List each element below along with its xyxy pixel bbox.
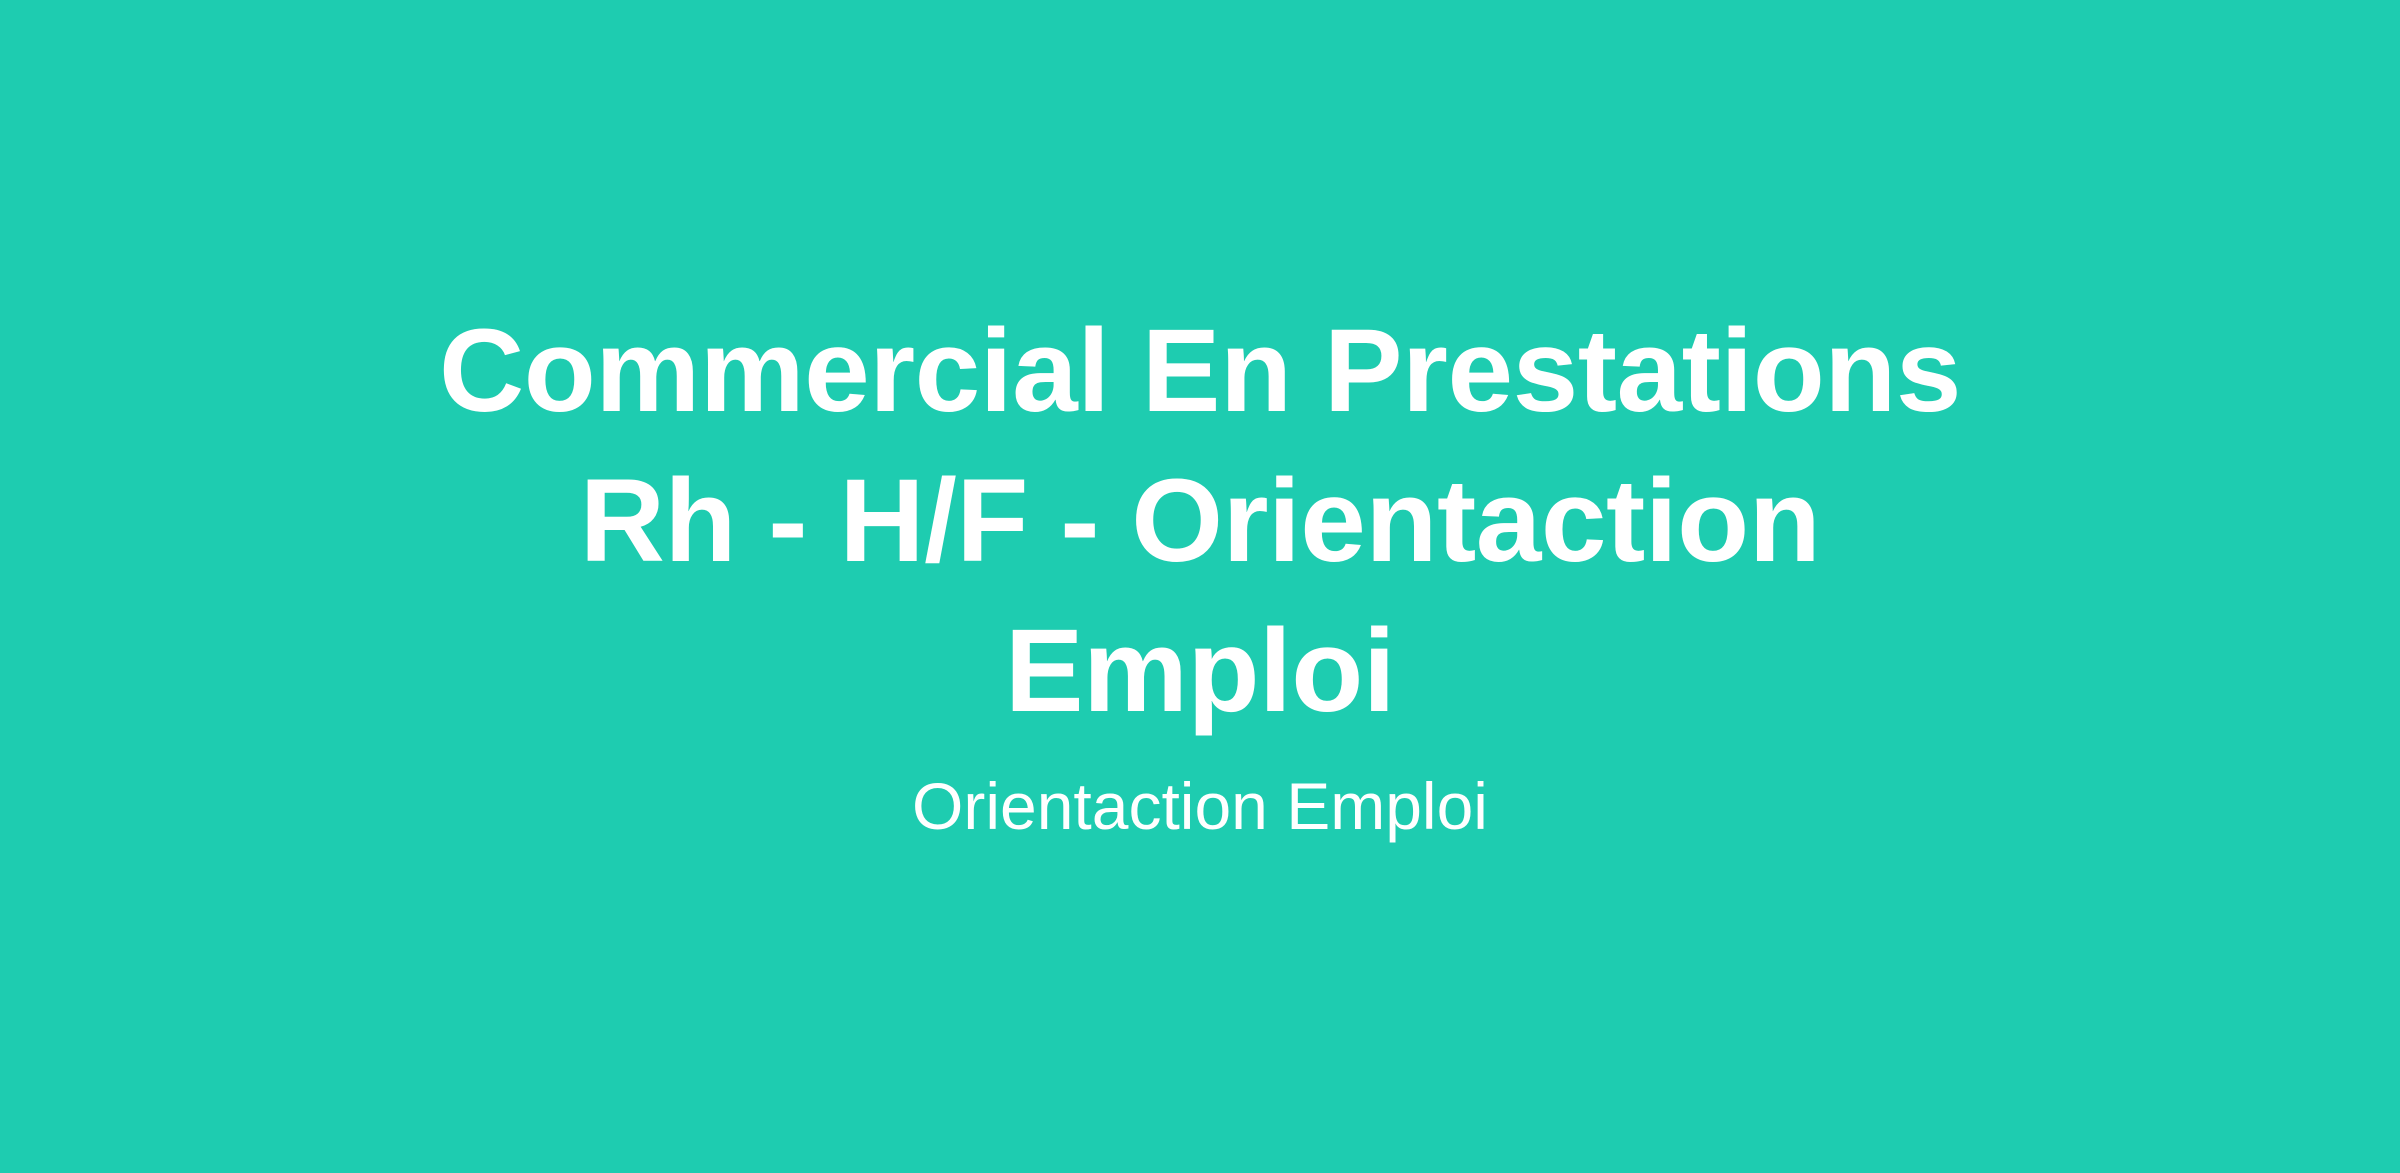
job-hero-banner: Commercial En Prestations Rh - H/F - Ori…	[0, 0, 2400, 1173]
company-name: Orientaction Emploi	[420, 746, 1980, 850]
hero-content: Commercial En Prestations Rh - H/F - Ori…	[400, 296, 2000, 850]
job-title: Commercial En Prestations Rh - H/F - Ori…	[420, 296, 1980, 746]
